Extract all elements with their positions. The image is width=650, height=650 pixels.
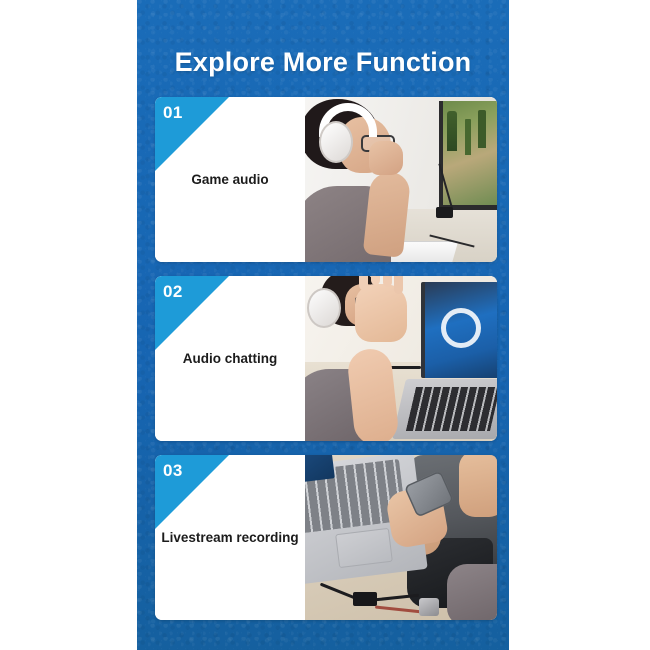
- card-text-area: 02 Audio chatting: [155, 276, 305, 441]
- audio-chat-photo: [305, 276, 497, 441]
- card-number: 03: [163, 460, 183, 481]
- card-label: Livestream recording: [155, 529, 304, 547]
- card-number-badge: 03: [155, 455, 229, 529]
- product-feature-panel: Explore More Function 01 Game audio: [0, 0, 650, 650]
- card-number-badge: 01: [155, 97, 229, 171]
- card-label: Game audio: [185, 171, 274, 189]
- headphone-earcup: [319, 121, 353, 163]
- feature-card-list: 01 Game audio: [155, 97, 497, 620]
- feature-card[interactable]: 01 Game audio: [155, 97, 497, 262]
- laptop-screen: [421, 282, 497, 378]
- feature-card[interactable]: 03 Livestream recording: [155, 455, 497, 620]
- page-title: Explore More Function: [137, 44, 509, 80]
- waving-hand: [355, 284, 407, 342]
- person-sleeve: [447, 564, 497, 620]
- card-text-area: 03 Livestream recording: [155, 455, 305, 620]
- card-photo: [305, 455, 497, 620]
- livestream-photo: [305, 455, 497, 620]
- card-label: Audio chatting: [177, 350, 284, 368]
- connector-plug: [419, 598, 439, 616]
- feature-card[interactable]: 02 Audio chatting: [155, 276, 497, 441]
- card-number: 01: [163, 102, 183, 123]
- laptop-keyboard: [406, 387, 497, 431]
- audio-adapter: [353, 592, 377, 606]
- card-text-area: 01 Game audio: [155, 97, 305, 262]
- card-number-badge: 02: [155, 276, 229, 350]
- laptop-trackpad: [335, 528, 393, 568]
- card-photo: [305, 276, 497, 441]
- person-arm: [459, 455, 497, 517]
- card-number: 02: [163, 281, 183, 302]
- headphone-earcup: [307, 288, 341, 328]
- card-photo: [305, 97, 497, 262]
- person-fist: [369, 141, 403, 175]
- gaming-photo: [305, 97, 497, 262]
- audio-adapter: [436, 207, 453, 218]
